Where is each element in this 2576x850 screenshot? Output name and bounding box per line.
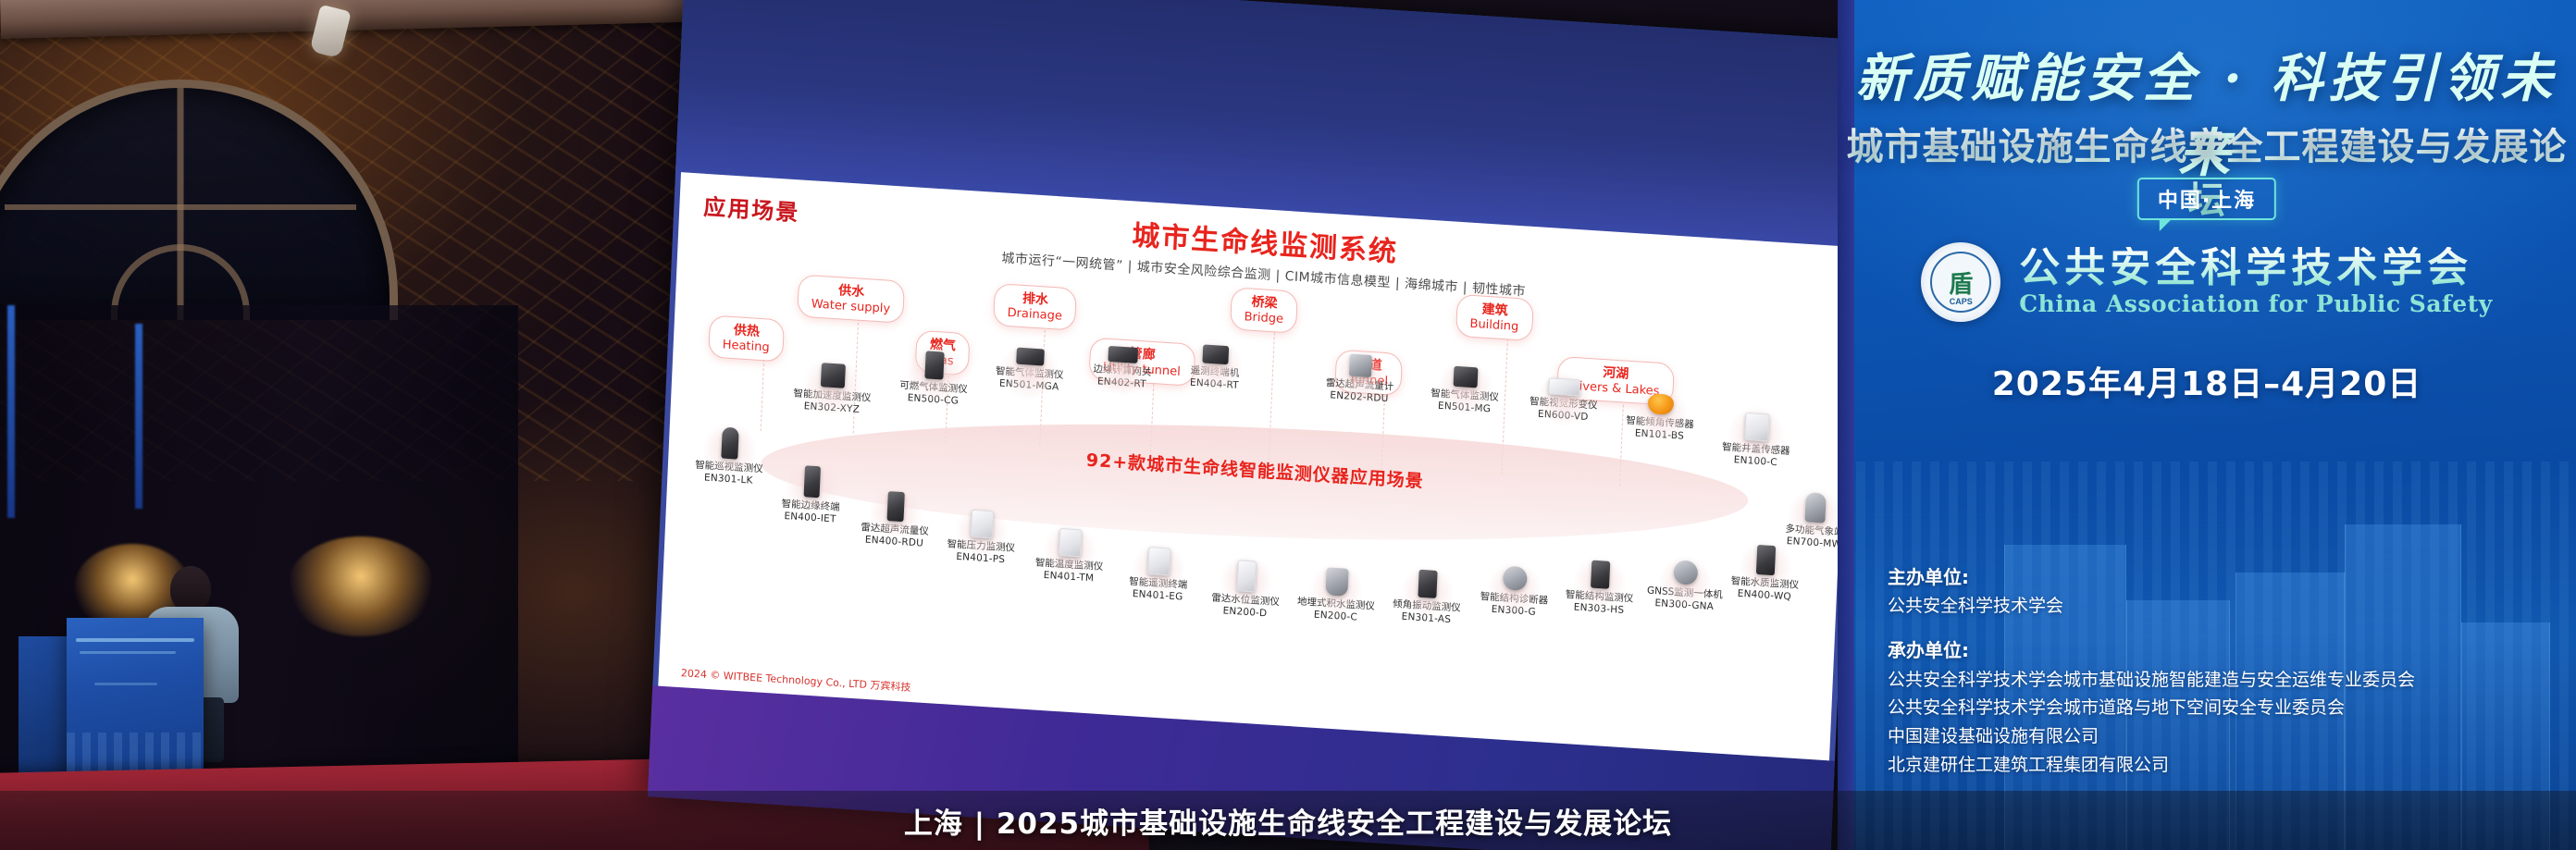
banner-organizers-block: 主办单位: 公共安全科学技术学会 承办单位: 公共安全科学技术学会城市基础设施智…: [1888, 562, 2539, 780]
device-item: 智能倾角传感器 EN101-BS: [1610, 391, 1710, 444]
device-item: 智能加速度监测仪 EN302-XYZ: [780, 360, 885, 417]
category-bubble-building[interactable]: 建筑 Building: [1455, 294, 1534, 341]
caps-seal-logo: 盾 CAPS: [1921, 242, 2000, 322]
category-label-en: Building: [1469, 316, 1518, 334]
banner-location-badge: 中国·上海: [2137, 178, 2276, 220]
chandelier-right: [287, 536, 435, 636]
organization-name-cn: 公共安全科学技术学会: [2019, 247, 2493, 289]
coorganizer-item: 公共安全科学技术学会城市基础设施智能建造与安全运维专业委员会: [1888, 666, 2539, 695]
speaker-podium: [67, 618, 204, 790]
device-item: 智能压力监测仪 EN401-PS: [935, 507, 1029, 567]
category-label-en: Heating: [722, 338, 770, 355]
device-item: 雷达超声流量仪 EN400-RDU: [846, 488, 945, 550]
projection-screen: WITBEE 万宾 应用场景 城市生命线监测系统 城市运行“一网统管” | 城市…: [648, 0, 1867, 850]
organization-name-en: China Association for Public Safety: [2019, 290, 2493, 317]
category-label-en: Bridge: [1244, 310, 1283, 326]
coorganizer-item: 公共安全科学技术学会城市道路与地下空间安全专业委员会: [1888, 694, 2539, 722]
device-item: 智能结构诊断器 EN300-G: [1468, 563, 1562, 620]
coorganizer-heading: 承办单位:: [1888, 635, 2539, 665]
device-item: 智能温度监测仪 EN401-TM: [1022, 526, 1117, 586]
host-heading: 主办单位:: [1888, 562, 2539, 592]
coorganizer-item: 北京建研住工建筑工程集团有限公司: [1888, 751, 2539, 780]
category-label-cn: 桥梁: [1245, 294, 1284, 312]
coorganizer-item: 中国建设基础设施有限公司: [1888, 722, 2539, 751]
device-item: 智能气体监测仪 EN501-MGA: [977, 345, 1083, 395]
device-item: 倾角振动监测仪 EN301-AS: [1380, 567, 1474, 627]
category-bubble-drainage[interactable]: 排水 Drainage: [993, 283, 1077, 330]
decor-light-strip: [7, 305, 15, 518]
decor-light-strip-2: [135, 324, 142, 509]
device-item: 可燃气体监测仪 EN500-CG: [882, 349, 985, 410]
organization-names: 公共安全科学技术学会 China Association for Public …: [2019, 247, 2493, 316]
device-item: 智能遥测终端 EN401-EG: [1112, 545, 1205, 605]
banner-date: 2025年4月18日–4月20日: [1838, 357, 2576, 405]
device-item: 智能气体监测仪 EN501-MG: [1417, 363, 1513, 416]
category-bubble-bridge[interactable]: 桥梁 Bridge: [1230, 287, 1298, 333]
device-item: 遥测终端机 EN404-RT: [1168, 342, 1262, 393]
banner-organization-row: 盾 CAPS 公共安全科学技术学会 China Association for …: [1838, 242, 2576, 322]
conference-banner: 新质赋能安全 · 科技引领未来 城市基础设施生命线安全工程建设与发展论坛 中国·…: [1838, 0, 2576, 850]
device-item: 智能视觉形变仪 EN600-VD: [1515, 376, 1613, 425]
device-item: 雷达超声流量计 EN202-RDU: [1310, 351, 1410, 406]
category-bubble-water-supply[interactable]: 供水 Water supply: [797, 274, 905, 323]
presentation-slide: WITBEE 万宾 应用场景 城市生命线监测系统 城市运行“一网统管” | 城市…: [658, 172, 1851, 762]
device-item: 智能边缘终端 EN400-IET: [763, 463, 859, 527]
secondary-podium-panel: [19, 636, 70, 784]
host-item: 公共安全科学技术学会: [1888, 592, 2539, 621]
speaker-head: [170, 566, 211, 612]
category-bubble-heating[interactable]: 供热 Heating: [708, 314, 785, 362]
device-item: 边缘计算网关 EN402-RT: [1073, 344, 1171, 392]
device-item: 地埋式积水监测仪 EN200-C: [1287, 565, 1385, 625]
device-item: 智能水质监测仪 EN400-WQ: [1718, 542, 1814, 604]
podium-accent-line-3: [94, 683, 157, 685]
device-item: 智能巡视监测仪 EN301-LK: [682, 425, 777, 488]
podium-accent-line-2: [80, 651, 176, 654]
organizer-spacer: [1888, 621, 2539, 635]
seal-glyph: 盾: [1924, 245, 1998, 319]
device-item: 雷达水位监测仪 EN200-D: [1198, 558, 1294, 622]
seal-abbreviation: CAPS: [1924, 297, 1998, 306]
device-item: 智能结构监测仪 EN303-HS: [1553, 558, 1647, 618]
category-label-en: Drainage: [1007, 305, 1062, 323]
conference-photo-screenshot: WITBEE 万宾 应用场景 城市生命线监测系统 城市运行“一网统管” | 城市…: [0, 0, 2576, 850]
device-item: 智能井盖传感器 EN100-C: [1707, 410, 1805, 470]
podium-accent-line-1: [76, 638, 194, 642]
